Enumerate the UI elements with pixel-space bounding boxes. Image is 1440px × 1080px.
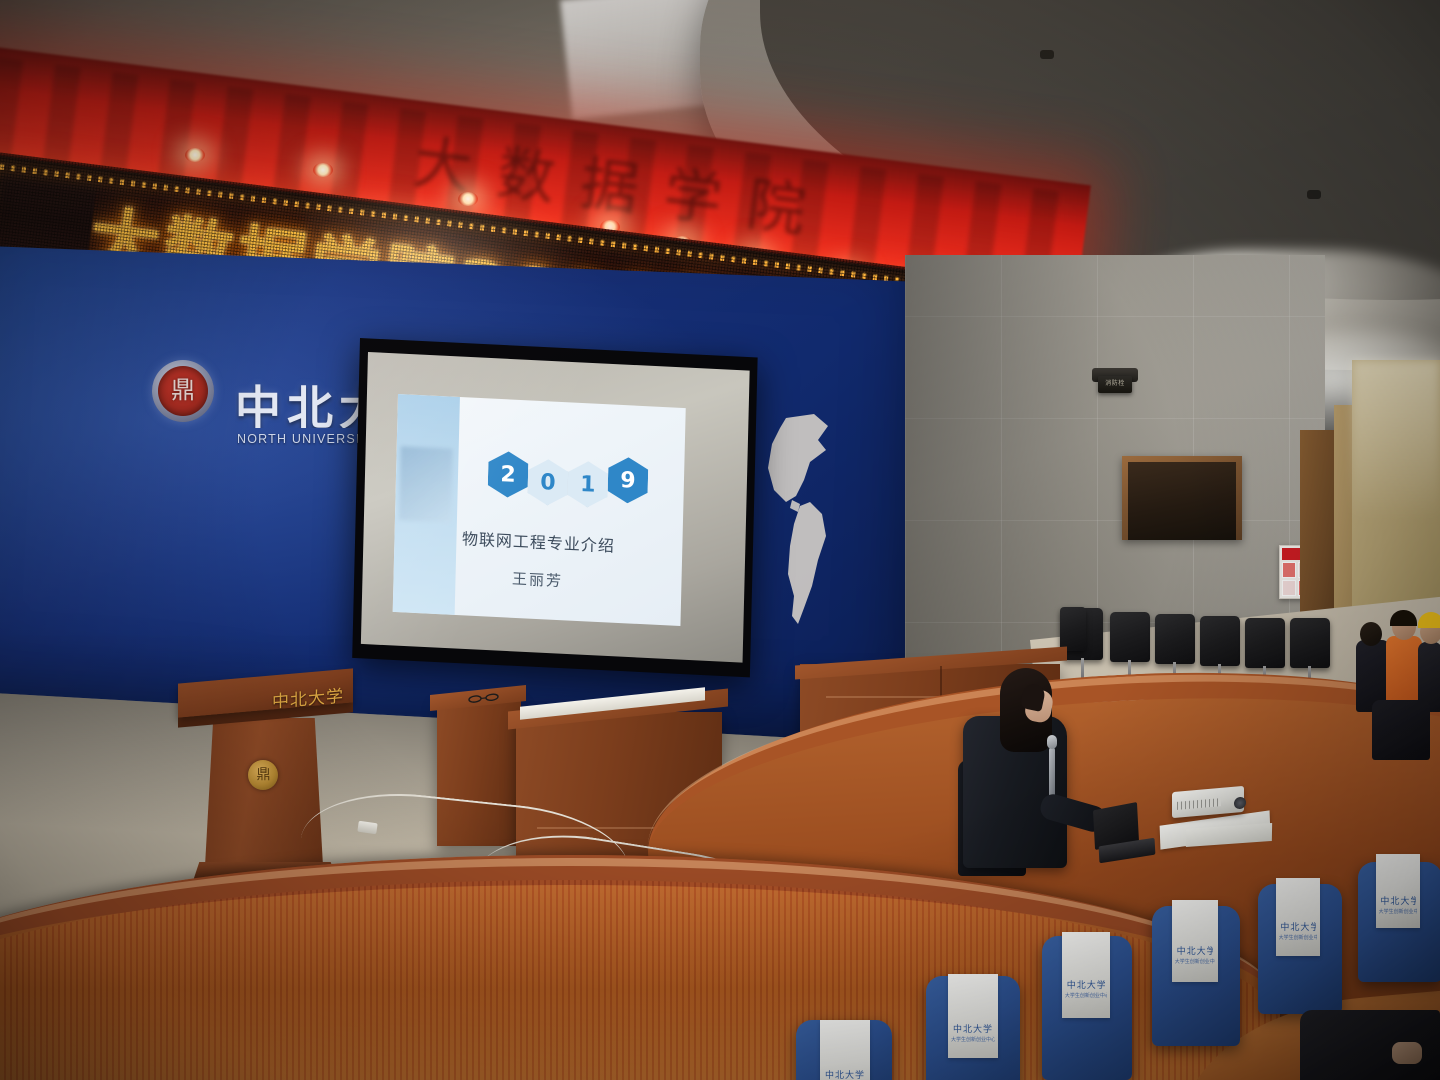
university-seal-glyph: 鼎 — [170, 376, 196, 404]
microphone-icon — [1047, 735, 1057, 749]
seat-towel-sub: 大学生创新创业中心 — [1065, 992, 1107, 999]
slide-year-digit-1: 2 — [488, 450, 529, 498]
seat-towel-logo: 中北大学 — [1067, 978, 1105, 991]
slide-year-digit-4: 9 — [607, 456, 648, 504]
conference-chair — [1290, 618, 1330, 668]
slide-photo-block — [399, 446, 453, 523]
seat-towel-logo: 中北大学 — [1380, 894, 1415, 907]
seat-antimacassar: 中北大学 大学生创新创业中心 — [948, 974, 998, 1058]
spot-lamp-icon — [185, 148, 205, 162]
seat-towel-logo: 中北大学 — [1177, 944, 1214, 957]
seat-antimacassar: 中北大学 大学生创新创业中心 — [1376, 854, 1420, 928]
poster-cell — [1282, 580, 1296, 596]
wall-alcove-interior — [1128, 462, 1236, 540]
americas-map-relief-icon — [756, 410, 866, 650]
audience-seat[interactable]: 中北大学 大学生创新创业中心 — [926, 976, 1020, 1080]
conference-chair — [1245, 618, 1285, 668]
seat-towel-sub: 大学生创新创业中心 — [1279, 934, 1318, 941]
ceiling-fixture-icon — [1307, 190, 1321, 199]
seat-towel-sub: 大学生创新创业中心 — [1379, 908, 1418, 915]
wall-sign-label: 消防栓 — [1098, 378, 1132, 390]
ceiling-fixture-icon — [1040, 50, 1054, 59]
seat-towel-logo: 中北大学 — [1280, 920, 1315, 933]
slide-year-digit-2: 0 — [527, 458, 568, 506]
seat-antimacassar: 中北大学 — [820, 1020, 870, 1080]
seat-antimacassar: 中北大学 大学生创新创业中心 — [1172, 900, 1218, 982]
seat-towel-sub: 大学生创新创业中心 — [1175, 958, 1216, 965]
poster-cell — [1282, 562, 1296, 578]
audience-seat[interactable]: 中北大学 — [796, 1020, 892, 1080]
student-orange-body — [1386, 636, 1422, 710]
conference-chair — [1200, 616, 1240, 666]
student-dark-1-head — [1360, 622, 1382, 646]
conference-chair — [1110, 612, 1150, 662]
auditorium-photo: 大数据学院 大数据学院2018级专业分流指导 鼎 中北大学 NORTH UNIV… — [0, 0, 1440, 1080]
audience-seat[interactable]: 中北大学 大学生创新创业中心 — [1152, 906, 1240, 1046]
conference-chair — [1155, 614, 1195, 664]
spot-lamp-icon — [313, 163, 333, 177]
audience-seat[interactable]: 中北大学 大学生创新创业中心 — [1358, 862, 1440, 982]
audience-seat[interactable]: 中北大学 大学生创新创业中心 — [1042, 936, 1132, 1080]
student-yellow-hat-icon — [1418, 612, 1440, 628]
podium-emblem-glyph: 鼎 — [255, 766, 272, 784]
audience-seat[interactable]: 中北大学 大学生创新创业中心 — [1258, 884, 1342, 1014]
student-group-lower — [1372, 700, 1430, 760]
conference-chair-side — [1060, 607, 1086, 651]
foreground-person-hand — [1392, 1042, 1422, 1064]
seat-towel-sub: 大学生创新创业中心 — [951, 1036, 995, 1043]
seat-towel-logo: 中北大学 — [953, 1022, 993, 1035]
seat-antimacassar: 中北大学 大学生创新创业中心 — [1276, 878, 1320, 956]
seat-towel-logo: 中北大学 — [825, 1068, 865, 1080]
presentation-slide: 2 0 1 9 物联网工程专业介绍 王丽芳 — [393, 394, 686, 626]
spot-lamp-icon — [458, 192, 478, 206]
slide-year-digit-3: 1 — [567, 460, 608, 508]
seat-antimacassar: 中北大学 大学生创新创业中心 — [1062, 932, 1110, 1018]
